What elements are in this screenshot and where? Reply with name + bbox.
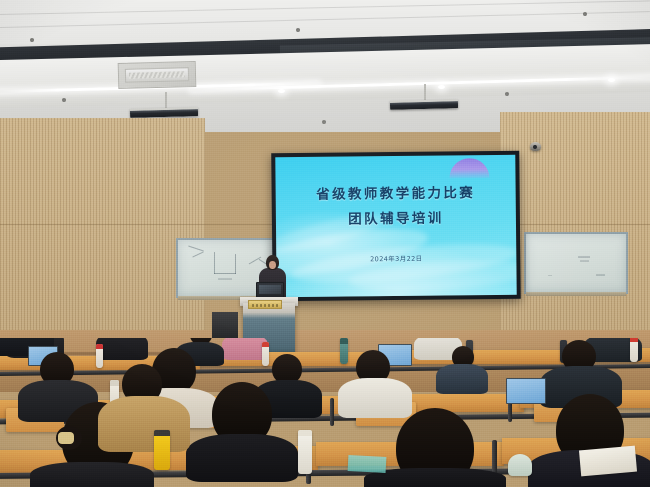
whiteboard-right	[524, 232, 628, 294]
speaker-left-icon	[130, 107, 198, 118]
slide-title-line-2: 团队辅导培训	[348, 207, 444, 228]
red-label-bottle-icon	[262, 342, 269, 366]
lecture-hall-photo: 省级教师教学能力比赛 团队辅导培训 2024年3月22日	[0, 0, 650, 487]
projection-screen: 省级教师教学能力比赛 团队辅导培训 2024年3月22日	[271, 151, 521, 302]
whiteboard-tray	[526, 292, 626, 296]
desk-divider	[330, 398, 334, 426]
presenter-face	[269, 261, 276, 269]
ceiling-fixture-icon	[62, 98, 66, 102]
notebook-paper	[579, 446, 637, 477]
laptop-blue-screen-icon	[506, 378, 546, 404]
red-label-bottle-icon	[96, 344, 103, 368]
speaker-mount-rod	[424, 84, 426, 100]
slide-title-line-1: 省级教师教学能力比赛	[316, 181, 475, 203]
cup-icon	[508, 454, 532, 476]
ceiling-lamp-icon	[608, 78, 615, 82]
podium-nameplate	[248, 300, 282, 309]
speaker-mount-rod	[165, 92, 167, 108]
wall-camera-icon	[530, 142, 541, 151]
ac-vent-icon	[118, 61, 197, 89]
white-bottle-icon	[298, 430, 312, 474]
ceiling-lamp-icon	[278, 89, 285, 93]
teal-notebook	[348, 455, 387, 473]
yellow-thermos-icon	[154, 430, 170, 470]
slide-surface: 省级教师教学能力比赛 团队辅导培训 2024年3月22日	[275, 155, 516, 298]
ceiling-fixture-icon	[30, 38, 34, 42]
stage-equipment-box	[212, 312, 238, 338]
ceiling-fixture-icon	[296, 28, 300, 32]
speaker-right-icon	[390, 99, 458, 110]
red-label-bottle-icon	[630, 338, 638, 362]
audience-seating	[0, 338, 650, 487]
ceiling-lamp-icon	[438, 85, 445, 89]
slide-text-block: 省级教师教学能力比赛 团队辅导培训 2024年3月22日	[275, 155, 516, 298]
ceiling-fixture-icon	[583, 12, 587, 16]
teal-thermos-icon	[340, 338, 348, 364]
slide-date: 2024年3月22日	[370, 253, 423, 264]
ceiling-fixture-icon	[505, 92, 509, 96]
